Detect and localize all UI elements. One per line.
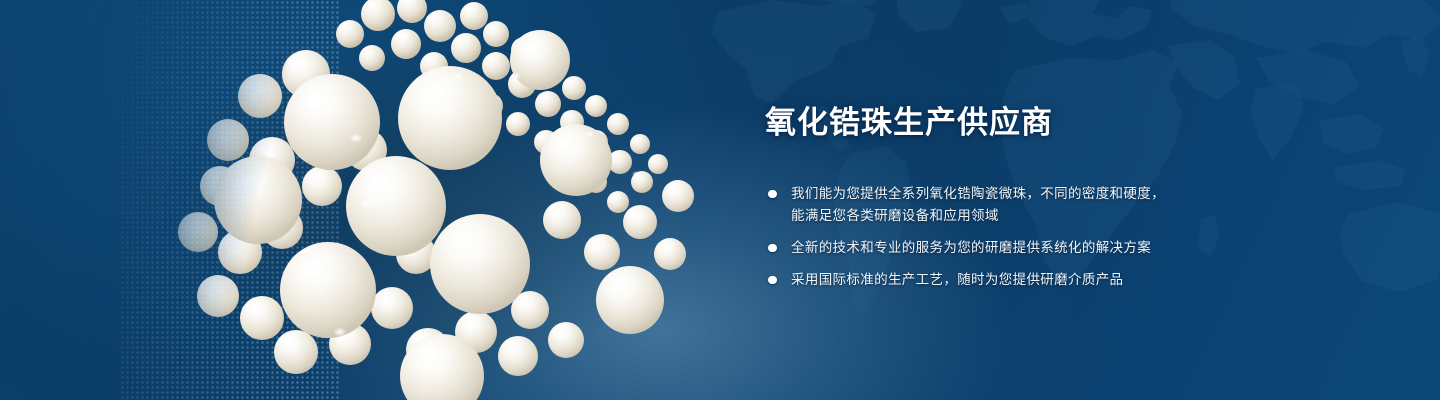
hero-banner: 氧化锆珠生产供应商 我们能为您提供全系列氧化锆陶瓷微珠，不同的密度和硬度， 能满…	[0, 0, 1440, 400]
bullet-dot-icon	[768, 276, 777, 285]
list-item-line: 采用国际标准的生产工艺，随时为您提供研磨介质产品	[791, 269, 1305, 291]
banner-copy: 氧化锆珠生产供应商 我们能为您提供全系列氧化锆陶瓷微珠，不同的密度和硬度， 能满…	[765, 104, 1305, 291]
list-item: 我们能为您提供全系列氧化锆陶瓷微珠，不同的密度和硬度， 能满足您各类研磨设备和应…	[765, 183, 1305, 227]
list-item-line: 全新的技术和专业的服务为您的研磨提供系统化的解决方案	[791, 237, 1305, 259]
list-item-line: 能满足您各类研磨设备和应用领域	[791, 205, 1305, 227]
bullet-dot-icon	[768, 244, 777, 253]
list-item: 采用国际标准的生产工艺，随时为您提供研磨介质产品	[765, 269, 1305, 291]
list-item-line: 我们能为您提供全系列氧化锆陶瓷微珠，不同的密度和硬度，	[791, 183, 1305, 205]
halftone-dot-fade	[120, 0, 340, 400]
list-item: 全新的技术和专业的服务为您的研磨提供系统化的解决方案	[765, 237, 1305, 259]
page-title: 氧化锆珠生产供应商	[765, 104, 1305, 142]
zirconia-beads-photo	[110, 0, 770, 400]
feature-list: 我们能为您提供全系列氧化锆陶瓷微珠，不同的密度和硬度， 能满足您各类研磨设备和应…	[765, 183, 1305, 291]
bullet-dot-icon	[768, 190, 777, 199]
